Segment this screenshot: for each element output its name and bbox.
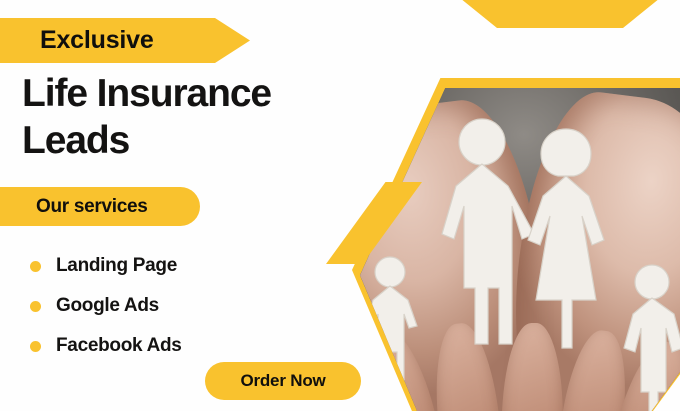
service-label: Google Ads <box>56 295 159 317</box>
services-header-label: Our services <box>36 196 148 218</box>
dot-icon <box>30 261 41 272</box>
exclusive-badge: Exclusive <box>0 18 250 63</box>
list-item: Landing Page <box>30 246 182 286</box>
service-label: Landing Page <box>56 255 177 277</box>
hands-family-photo <box>360 88 680 411</box>
services-header: Our services <box>0 187 200 226</box>
dot-icon <box>30 301 41 312</box>
dot-icon <box>30 341 41 352</box>
paper-figure-boy <box>624 265 680 411</box>
life-insurance-leads-banner: Exclusive Life Insurance Leads Our servi… <box>0 0 680 411</box>
list-item: Facebook Ads <box>30 326 182 366</box>
headline-line-2: Leads <box>22 117 352 164</box>
order-now-button[interactable]: Order Now <box>205 362 361 400</box>
paper-figure-woman <box>528 129 604 348</box>
headline-line-1: Life Insurance <box>22 70 352 117</box>
service-label: Facebook Ads <box>56 335 182 357</box>
paper-figure-man <box>442 119 534 344</box>
hexagon-top-sliver-decoration <box>455 0 665 28</box>
services-list: Landing Page Google Ads Facebook Ads <box>30 246 182 366</box>
list-item: Google Ads <box>30 286 182 326</box>
exclusive-badge-label: Exclusive <box>40 26 154 55</box>
page-title: Life Insurance Leads <box>22 70 352 164</box>
paper-family-figures <box>360 88 680 411</box>
